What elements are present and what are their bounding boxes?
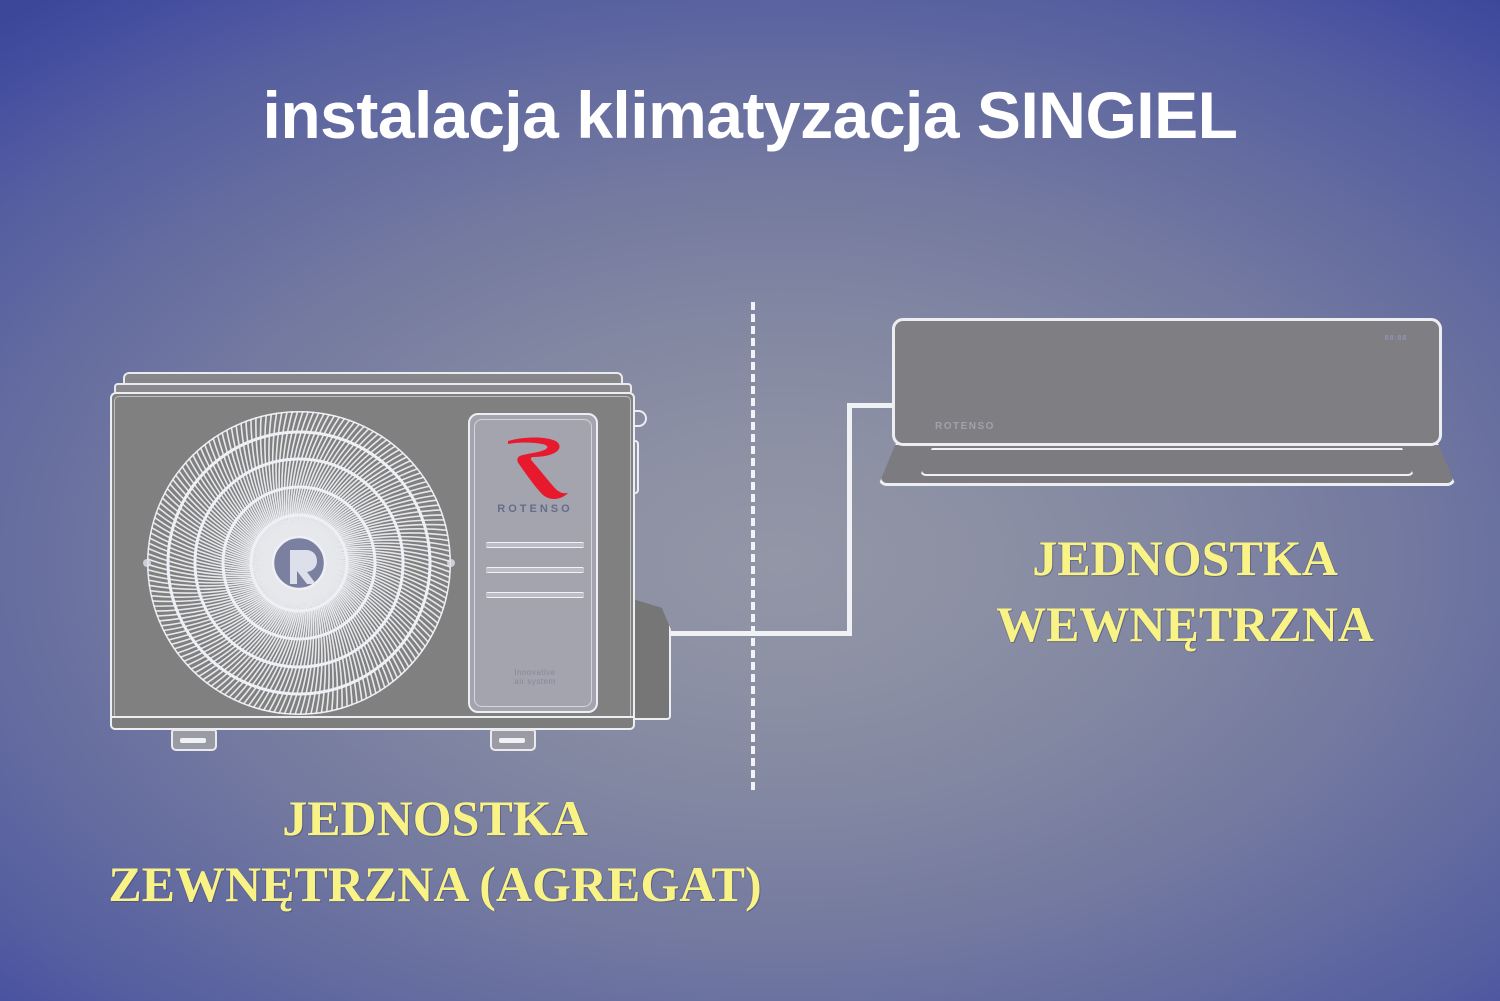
indoor-unit-body: 88:88 ROTENSO — [892, 318, 1442, 446]
outdoor-unit-brand-label: ROTENSO — [470, 503, 600, 515]
outdoor-unit-foot — [490, 729, 536, 751]
outdoor-unit-valve-cover — [629, 598, 671, 720]
label-outdoor-unit: JEDNOSTKA ZEWNĘTRZNA (AGREGAT) — [30, 785, 840, 917]
pipe-segment-horizontal-lower — [643, 631, 852, 636]
diagram-canvas: instalacja klimatyzacja SINGIEL — [0, 0, 1500, 1001]
page-title: instalacja klimatyzacja SINGIEL — [0, 80, 1500, 151]
outdoor-unit-front-panel: ROTENSO Innovative air system — [468, 413, 598, 713]
indoor-unit-display: 88:88 — [1375, 335, 1417, 344]
outdoor-unit-base-strip — [110, 716, 635, 730]
fan-grille-icon — [143, 407, 455, 719]
label-indoor-unit: JEDNOSTKA WEWNĘTRZNA — [935, 525, 1435, 657]
wall-section-line — [751, 302, 755, 790]
indoor-unit-brand-label: ROTENSO — [935, 421, 995, 432]
outdoor-unit-panel-slot — [486, 542, 584, 548]
indoor-unit-air-louver-inner — [920, 448, 1414, 476]
outdoor-unit-foot — [171, 729, 217, 751]
outdoor-unit: ROTENSO Innovative air system — [105, 372, 650, 757]
indoor-unit: 88:88 ROTENSO — [878, 318, 1456, 490]
outdoor-unit-panel-slot — [486, 567, 584, 573]
outdoor-unit-panel-microtext: Innovative air system — [470, 668, 600, 686]
rotenso-r-logo-icon — [498, 431, 572, 503]
pipe-segment-vertical — [847, 403, 852, 636]
outdoor-unit-panel-slot — [486, 592, 584, 598]
